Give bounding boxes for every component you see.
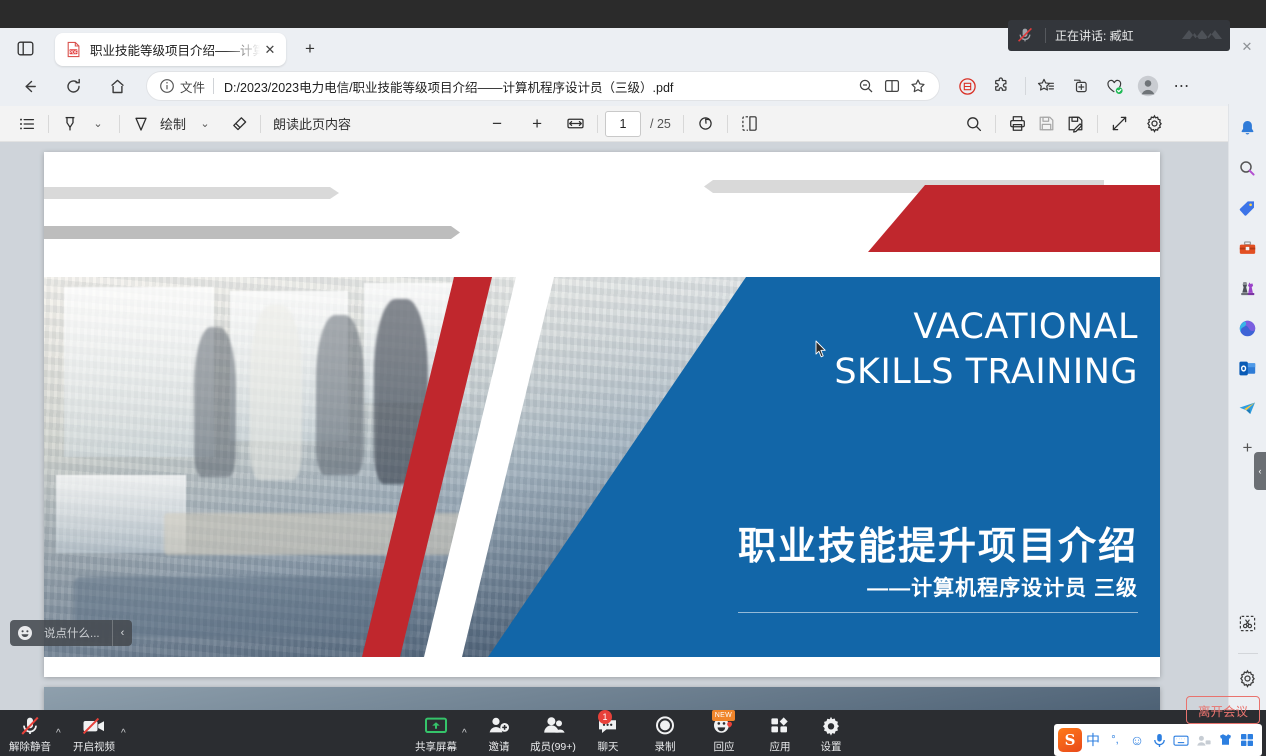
pdf-file-icon: PDF (65, 41, 82, 58)
invite-label: 邀请 (489, 739, 510, 754)
chat-collapse-icon[interactable]: ‹ (112, 620, 132, 646)
toolbar-divider-8 (1097, 115, 1098, 133)
window-close-icon[interactable]: ✕ (1236, 36, 1258, 58)
tab-close-icon[interactable]: ✕ (260, 40, 280, 60)
chat-unread-badge: 1 (598, 710, 612, 724)
video-options-caret[interactable]: ^ (121, 728, 126, 739)
settings-button[interactable]: 设置 (803, 713, 859, 754)
mute-toggle-button[interactable]: 解除静音 (2, 713, 58, 754)
edge-browser-window: PDF 职业技能等级项目介绍——计算机 ✕ + (0, 0, 1266, 710)
pdf-document-area[interactable]: VACATIONAL SKILLS TRAINING 职业技能提升项目介绍 ——… (0, 142, 1228, 710)
back-icon[interactable] (14, 71, 44, 101)
decor-arrow-bar-2 (44, 226, 460, 239)
telegram-plane-icon[interactable] (1234, 394, 1262, 422)
draw-pen-icon[interactable] (127, 110, 155, 138)
meeting-app-logo (1180, 26, 1224, 44)
read-aloud-button[interactable]: 朗读此页内容 (268, 110, 356, 138)
decor-red-band (868, 185, 1160, 252)
save-icon (1032, 110, 1061, 138)
invite-person-icon (487, 713, 511, 737)
eraser-icon[interactable] (225, 110, 253, 138)
mute-toggle-label: 解除静音 (9, 739, 51, 754)
rotate-icon[interactable] (691, 110, 720, 138)
table-of-contents-icon[interactable] (13, 110, 41, 138)
sidebar-divider (1238, 653, 1258, 654)
reactions-icon: NEW (711, 713, 737, 737)
site-info-icon[interactable] (159, 78, 175, 94)
toolbar-divider-3 (260, 115, 261, 133)
video-toggle-label: 开启视频 (73, 739, 115, 754)
refresh-icon[interactable] (58, 71, 88, 101)
video-toggle-button[interactable]: 开启视频 (66, 713, 122, 754)
outlook-icon[interactable] (1234, 354, 1262, 382)
share-screen-label: 共享屏幕 (415, 739, 457, 754)
apps-button[interactable]: 应用 (752, 713, 808, 754)
page-total-label: / 25 (650, 117, 671, 131)
decor-arrow-bar-1 (44, 187, 339, 199)
browser-actions: ⋯ (952, 71, 1201, 101)
chat-button[interactable]: 1 聊天 (580, 713, 636, 754)
toolbar-divider (48, 115, 49, 133)
zoom-in-button[interactable]: + (523, 110, 551, 138)
profile-avatar[interactable] (1133, 71, 1163, 101)
toolbar-divider-4 (597, 115, 598, 133)
screen: PDF 职业技能等级项目介绍——计算机 ✕ + (0, 0, 1266, 756)
floating-chat-bar[interactable]: 说点什么... ‹ (10, 620, 132, 646)
add-tab-group-icon[interactable] (1065, 71, 1095, 101)
leave-meeting-button[interactable]: 离开会议 (1186, 696, 1260, 724)
url-scheme-label: 文件 (180, 77, 205, 96)
sogou-logo-icon[interactable]: S (1058, 728, 1082, 752)
ime-soft-keyboard-icon[interactable] (1170, 727, 1192, 753)
actions-divider (1025, 77, 1026, 95)
settings-label: 设置 (821, 739, 842, 754)
sidebar-collapse-button[interactable]: ‹ (1254, 452, 1266, 490)
split-screen-icon[interactable] (879, 73, 905, 99)
highlighter-chevron-down-icon[interactable]: ⌄ (84, 110, 112, 138)
sogou-ime-bar[interactable]: S 中 °, ☺ (1054, 724, 1262, 756)
fit-to-width-icon[interactable] (561, 110, 590, 138)
sidebar-settings-icon[interactable] (1234, 664, 1262, 692)
ime-punctuation-mode-icon[interactable]: °, (1104, 727, 1126, 753)
save-as-icon[interactable] (1061, 110, 1090, 138)
edge-sidebar: + ‹ (1228, 104, 1266, 710)
toolbar-divider-5 (683, 115, 684, 133)
chat-input-placeholder[interactable]: 说点什么... (40, 625, 112, 641)
ime-handwriting-icon[interactable] (1192, 727, 1214, 753)
address-bar[interactable]: 文件 D:/2023/2023电力电信/职业技能等级项目介绍——计算机程序设计员… (146, 71, 940, 101)
tab-switcher-icon[interactable] (13, 36, 37, 60)
highlighter-icon[interactable] (56, 110, 84, 138)
url-text: D:/2023/2023电力电信/职业技能等级项目介绍——计算机程序设计员（三级… (224, 77, 853, 96)
participants-icon (541, 713, 565, 737)
svg-text:PDF: PDF (69, 49, 78, 54)
home-icon[interactable] (102, 71, 132, 101)
zoom-out-icon[interactable] (853, 73, 879, 99)
participants-label: 成员(99+) (530, 739, 576, 754)
extensions-puzzle-icon[interactable] (986, 71, 1016, 101)
mic-muted-icon (1016, 26, 1036, 46)
cover-rule-line (738, 612, 1138, 613)
games-icon[interactable] (1234, 274, 1262, 302)
ime-emoji-icon[interactable]: ☺ (1126, 727, 1148, 753)
chat-bubble-icon: 1 (596, 713, 620, 737)
draw-label[interactable]: 绘制 (155, 110, 191, 138)
record-label: 录制 (655, 739, 676, 754)
mic-options-caret[interactable]: ^ (56, 728, 61, 739)
search-icon[interactable] (960, 110, 988, 138)
pdf-page-2 (44, 687, 1160, 710)
fullscreen-icon[interactable] (1105, 110, 1134, 138)
star-icon[interactable] (905, 73, 931, 99)
chat-label: 聊天 (598, 739, 619, 754)
omnibox-divider (213, 78, 214, 94)
more-options-icon[interactable]: ⋯ (1167, 71, 1197, 101)
ime-skin-icon[interactable] (1214, 727, 1236, 753)
cover-chinese-title: 职业技能提升项目介绍 (538, 515, 1138, 570)
zoom-out-button[interactable]: − (483, 110, 511, 138)
apps-label: 应用 (770, 739, 791, 754)
emoji-smile-icon[interactable] (10, 620, 40, 646)
reactions-label: 回应 (714, 739, 735, 754)
toolbar-divider-2 (119, 115, 120, 133)
ime-chinese-mode-icon[interactable]: 中 (1082, 727, 1104, 753)
copilot-icon[interactable] (1234, 314, 1262, 342)
camera-muted-icon (81, 713, 107, 737)
gear-icon (819, 713, 843, 737)
meeting-toolbar: 解除静音 ^ 开启视频 ^ 共享屏幕 ^ (0, 710, 1266, 756)
banner-divider (1045, 28, 1046, 43)
reactions-new-tag: NEW (712, 710, 735, 721)
toolbar-divider-6 (727, 115, 728, 133)
cover-chinese-subtitle: ——计算机程序设计员 三级 (538, 572, 1138, 602)
invite-button[interactable]: 邀请 (471, 713, 527, 754)
pdf-page-1: VACATIONAL SKILLS TRAINING 职业技能提升项目介绍 ——… (44, 152, 1160, 677)
speaking-text: 正在讲话: 臧虹 (1055, 27, 1134, 44)
pdf-toolbar: ⌄ 绘制 ⌄ 朗读此页内容 − + (0, 106, 1228, 142)
participants-button[interactable]: 成员(99+) (525, 713, 581, 754)
navigation-bar: 文件 D:/2023/2023电力电信/职业技能等级项目介绍——计算机程序设计员… (0, 68, 1266, 104)
ime-voice-input-icon[interactable] (1148, 727, 1170, 753)
apps-grid-icon (768, 713, 792, 737)
notifications-bell-icon[interactable] (1234, 114, 1262, 142)
pdf-settings-gear-icon[interactable] (1140, 110, 1169, 138)
tab-title: 职业技能等级项目介绍——计算机 (90, 40, 260, 59)
red-seal-extension-icon[interactable] (952, 71, 982, 101)
page-number-input[interactable]: 1 (605, 111, 641, 137)
share-screen-button[interactable]: 共享屏幕 (408, 713, 464, 754)
new-tab-button[interactable]: + (297, 36, 323, 62)
reactions-button[interactable]: NEW 回应 (696, 713, 752, 754)
record-button[interactable]: 录制 (637, 713, 693, 754)
screenshot-snip-icon[interactable] (1234, 609, 1262, 637)
speaking-banner[interactable]: 正在讲话: 臧虹 (1008, 20, 1230, 51)
collections-icon[interactable] (1031, 71, 1061, 101)
share-screen-icon (423, 713, 449, 737)
print-icon[interactable] (1003, 110, 1032, 138)
tools-toolbox-icon[interactable] (1234, 234, 1262, 262)
draw-chevron-down-icon[interactable]: ⌄ (191, 110, 219, 138)
mic-muted-icon (19, 713, 41, 737)
search-icon[interactable] (1234, 154, 1262, 182)
shopping-tag-icon[interactable] (1234, 194, 1262, 222)
browser-tab[interactable]: PDF 职业技能等级项目介绍——计算机 ✕ (55, 33, 286, 66)
record-circle-icon (653, 713, 677, 737)
ime-toolbox-icon[interactable] (1236, 727, 1258, 753)
page-layout-icon[interactable] (735, 110, 764, 138)
browser-essentials-icon[interactable] (1099, 71, 1129, 101)
mouse-cursor (815, 340, 827, 359)
share-options-caret[interactable]: ^ (462, 728, 467, 739)
toolbar-divider-7 (995, 115, 996, 133)
